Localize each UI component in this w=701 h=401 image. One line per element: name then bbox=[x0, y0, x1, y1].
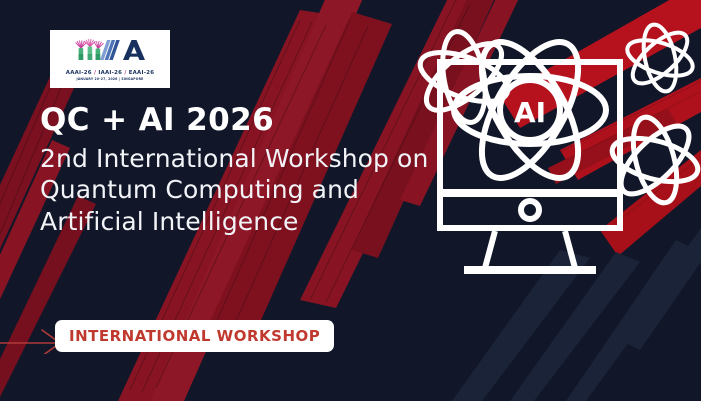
status-badge: INTERNATIONAL WORKSHOP bbox=[55, 320, 334, 352]
aaai-orchid-a-logo-icon bbox=[67, 38, 153, 68]
poster-text-block: QC + AI 2026 2nd International Workshop … bbox=[40, 104, 440, 237]
logo-conference-details: JANUARY 20-27, 2026 | SINGAPORE bbox=[76, 77, 143, 81]
logo-stripes bbox=[100, 40, 120, 60]
badge-label: INTERNATIONAL WORKSHOP bbox=[69, 327, 320, 345]
atom-icon-top-right bbox=[623, 22, 697, 95]
logo-letter-a bbox=[123, 40, 145, 60]
monitor-power-indicator bbox=[521, 201, 539, 219]
ai-label: AI bbox=[514, 96, 546, 129]
page-title: QC + AI 2026 bbox=[40, 104, 440, 137]
aaai-conference-logo-card: AAAI-26 / IAAI-26 / EAAI-26 JANUARY 20-2… bbox=[50, 30, 170, 88]
badge-row: INTERNATIONAL WORKSHOP bbox=[0, 320, 400, 360]
logo-conference-names: AAAI-26 / IAAI-26 / EAAI-26 bbox=[66, 70, 154, 76]
orchid-flowers bbox=[76, 39, 104, 60]
poster-subtitle: 2nd International Workshop on Quantum Co… bbox=[40, 143, 430, 238]
poster-canvas: AAAI-26 / IAAI-26 / EAAI-26 JANUARY 20-2… bbox=[0, 0, 701, 401]
artwork-svg: AI bbox=[400, 0, 701, 401]
artwork-panel: AI bbox=[400, 0, 701, 401]
